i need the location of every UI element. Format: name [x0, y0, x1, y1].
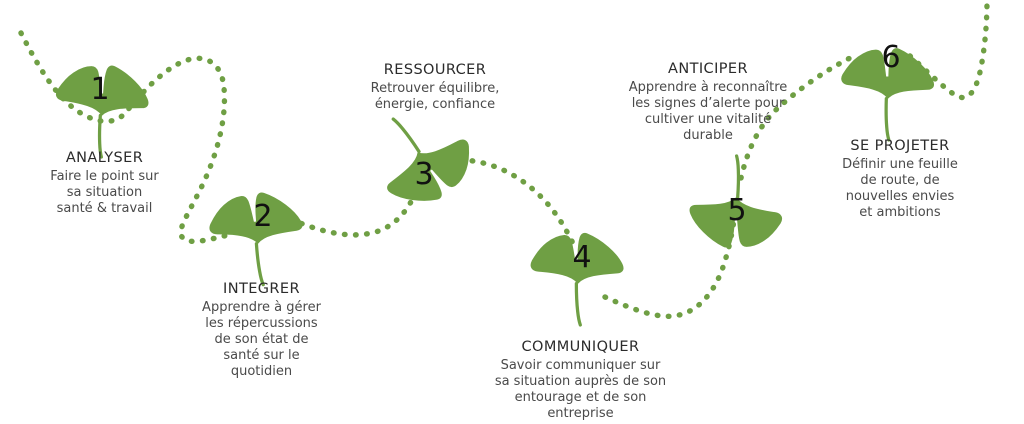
step-desc-line: énergie, confiance — [350, 97, 520, 113]
step-title-1: ANALYSER — [27, 150, 182, 168]
step-desc-line: entourage et de son — [483, 390, 678, 406]
step-text-3: RESSOURCER Retrouver équilibre, énergie,… — [350, 62, 520, 113]
step-desc-line: et ambitions — [815, 205, 985, 221]
step-desc-line: durable — [628, 128, 788, 144]
step-desc-line: nouvelles envies — [815, 189, 985, 205]
step-desc-3: Retrouver équilibre, énergie, confiance — [350, 81, 520, 113]
step-desc-line: de route, de — [815, 173, 985, 189]
step-desc-line: les signes d’alerte pour — [628, 96, 788, 112]
step-title-6: SE PROJETER — [815, 138, 985, 156]
step-text-4: COMMUNIQUER Savoir communiquer sur sa si… — [483, 339, 678, 422]
step-marker-2[interactable]: 2 — [206, 188, 309, 291]
step-title-5: ANTICIPER — [628, 61, 788, 79]
step-number-5: 5 — [727, 193, 746, 228]
step-text-1: ANALYSER Faire le point sur sa situation… — [27, 150, 182, 217]
step-text-2: INTEGRER Apprendre à gérer les répercuss… — [184, 281, 339, 380]
infographic-canvas: 1 2 3 4 5 — [0, 0, 1024, 424]
step-title-2: INTEGRER — [184, 281, 339, 299]
step-number-2: 2 — [253, 199, 272, 234]
step-desc-line: quotidien — [184, 364, 339, 380]
step-desc-line: santé sur le — [184, 348, 339, 364]
step-number-6: 6 — [881, 40, 900, 75]
step-marker-6[interactable]: 6 — [841, 40, 936, 142]
step-desc-line: Savoir communiquer sur — [483, 358, 678, 374]
step-desc-5: Apprendre à reconnaître les signes d’ale… — [628, 80, 788, 144]
step-desc-2: Apprendre à gérer les répercussions de s… — [184, 300, 339, 380]
step-desc-line: de son état de — [184, 332, 339, 348]
step-desc-line: sa situation auprès de son — [483, 374, 678, 390]
step-text-5: ANTICIPER Apprendre à reconnaître les si… — [628, 61, 788, 144]
step-desc-line: entreprise — [483, 406, 678, 422]
step-desc-line: les répercussions — [184, 316, 339, 332]
step-number-1: 1 — [90, 72, 109, 107]
step-title-3: RESSOURCER — [350, 62, 520, 80]
step-desc-line: santé & travail — [27, 201, 182, 217]
step-desc-line: Retrouver équilibre, — [350, 81, 520, 97]
step-desc-line: Faire le point sur — [27, 169, 182, 185]
step-number-3: 3 — [414, 157, 433, 192]
step-desc-4: Savoir communiquer sur sa situation aupr… — [483, 358, 678, 422]
step-marker-5[interactable]: 5 — [690, 156, 782, 247]
step-marker-4[interactable]: 4 — [529, 231, 627, 328]
step-desc-6: Définir une feuille de route, de nouvell… — [815, 157, 985, 221]
step-desc-line: Apprendre à gérer — [184, 300, 339, 316]
step-marker-1[interactable]: 1 — [56, 66, 148, 157]
step-desc-1: Faire le point sur sa situation santé & … — [27, 169, 182, 217]
step-text-6: SE PROJETER Définir une feuille de route… — [815, 138, 985, 221]
step-desc-line: Définir une feuille — [815, 157, 985, 173]
step-desc-line: cultiver une vitalité — [628, 112, 788, 128]
step-desc-line: Apprendre à reconnaître — [628, 80, 788, 96]
step-number-4: 4 — [572, 240, 591, 275]
step-title-4: COMMUNIQUER — [483, 339, 678, 357]
step-desc-line: sa situation — [27, 185, 182, 201]
